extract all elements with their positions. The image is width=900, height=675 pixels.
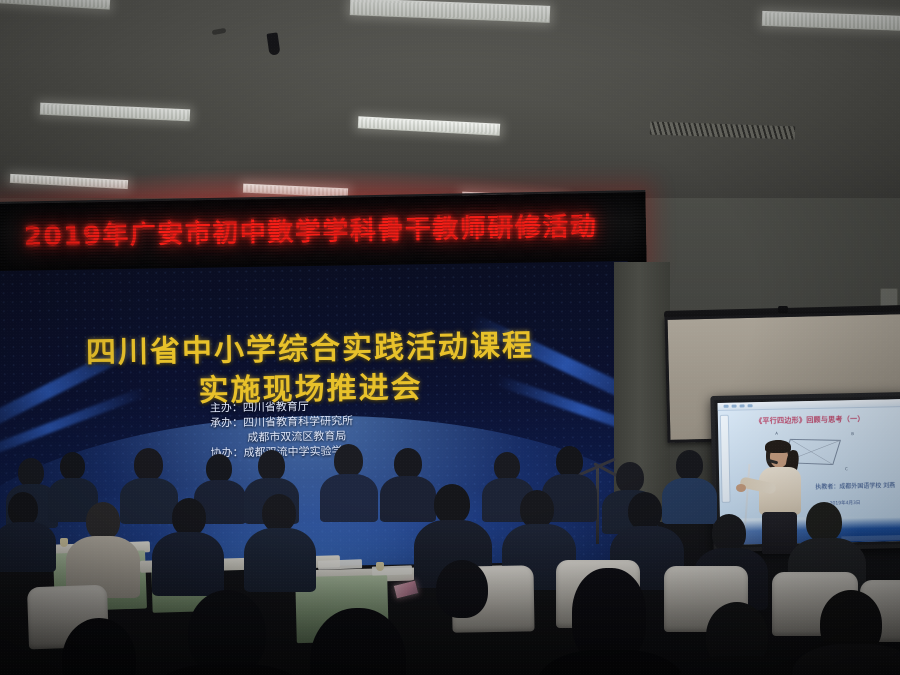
- audience-head: [258, 450, 285, 481]
- projection-screen-knob[interactable]: [778, 306, 788, 313]
- audience-body: [380, 476, 436, 522]
- toolbar-dot-icon: [724, 405, 729, 408]
- toolbar-dot-icon: [748, 404, 753, 407]
- audience-head: [206, 454, 232, 483]
- audience-body: [662, 478, 717, 524]
- audience-head: [394, 448, 422, 479]
- vertex-label-a: A: [775, 431, 778, 436]
- audience-head: [8, 492, 38, 526]
- audience-head: [494, 452, 520, 481]
- desk-cup: [60, 538, 68, 547]
- audience-body: [320, 474, 378, 522]
- desk-cup: [376, 562, 384, 571]
- ceiling-sensor-icon: [267, 32, 281, 55]
- audience-head: [628, 492, 662, 530]
- air-vent-icon: [650, 121, 795, 139]
- ceiling-light-panel: [350, 0, 551, 23]
- audience-head: [172, 498, 206, 536]
- audience-head: [334, 444, 363, 477]
- toolbar-dot-icon: [732, 405, 737, 408]
- audience-head: [18, 458, 44, 487]
- audience-body: [0, 522, 56, 572]
- audience-body: [152, 532, 224, 596]
- vertex-label-b: B: [851, 431, 854, 436]
- audience-body: [676, 656, 800, 675]
- smartphone-icon[interactable]: [393, 579, 420, 599]
- desk-paper: [318, 559, 362, 570]
- audience-head: [434, 484, 470, 524]
- audience-head: [556, 446, 583, 477]
- audience-body: [244, 528, 316, 592]
- audience-head: [188, 590, 266, 675]
- toolbar-dot-icon: [740, 404, 745, 407]
- ceiling-light-panel: [40, 103, 190, 122]
- audience-head: [520, 490, 554, 528]
- audience-body: [792, 644, 900, 675]
- ceiling-light-panel: [0, 0, 110, 10]
- led-banner-text: 2019年广安市初中数学学科骨干教师研修活动: [24, 205, 625, 253]
- audience-head: [436, 560, 488, 618]
- ceiling: [0, 0, 900, 210]
- audience-body: [150, 664, 308, 675]
- audience-body: [120, 478, 178, 524]
- slideshow-toolbar[interactable]: [718, 399, 900, 411]
- audience-head: [86, 502, 120, 540]
- audience-head: [60, 452, 85, 480]
- audience-head: [616, 462, 644, 493]
- audience-body: [536, 650, 686, 675]
- audience-head: [712, 514, 746, 552]
- lecture-hall-photo: 2019年广安市初中数学学科骨干教师研修活动 四川省中小学综合实践活动课程 实施…: [0, 0, 900, 675]
- ceiling-light-panel: [762, 11, 900, 32]
- audience-head: [676, 450, 703, 480]
- audience-head: [262, 494, 296, 532]
- slide-title: 《平行四边形》回顾与思考（一）: [718, 413, 900, 427]
- audience-head: [806, 502, 842, 542]
- ceiling-mark: [212, 28, 227, 35]
- audience-area: [0, 440, 900, 675]
- audience-head: [134, 448, 163, 481]
